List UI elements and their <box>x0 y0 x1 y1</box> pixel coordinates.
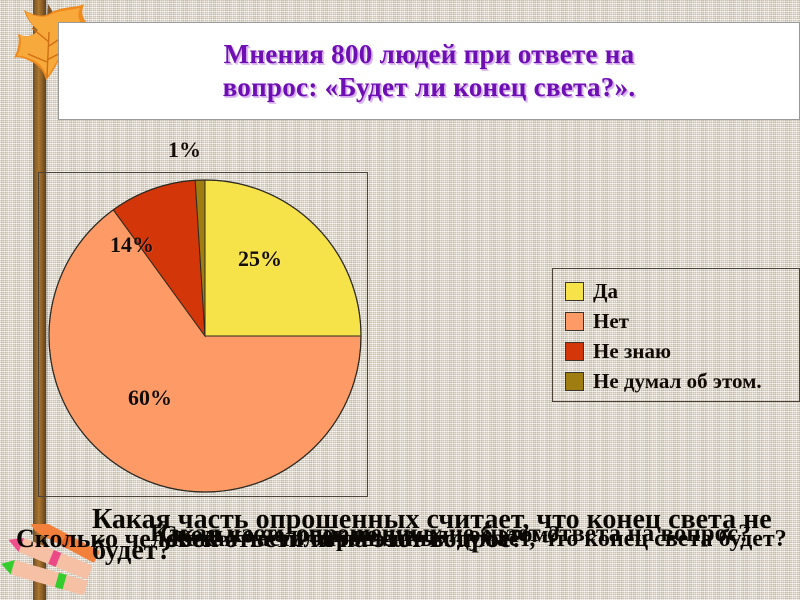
title-line-2: вопрос: «Будет ли конец света?». <box>223 71 636 104</box>
legend-item-net: Нет <box>565 306 799 336</box>
pie-chart <box>45 176 365 496</box>
question-5: Какая часть опрошенных думает, что конец… <box>170 526 787 553</box>
pie-slice-da <box>205 180 361 336</box>
pie-label-net: 60% <box>128 385 172 411</box>
title-line-1: Мнения 800 людей при ответе на <box>224 38 635 71</box>
chart-legend: Да Нет Не знаю Не думал об этом. <box>552 268 800 402</box>
legend-item-ne-dumal: Не думал об этом. <box>565 366 799 396</box>
legend-swatch-ne-znayu <box>565 342 584 361</box>
pie-label-ne-dumal: 1% <box>168 137 201 163</box>
legend-label-da: Да <box>593 279 618 304</box>
legend-item-da: Да <box>565 276 799 306</box>
legend-label-ne-dumal: Не думал об этом. <box>593 369 762 394</box>
legend-swatch-da <box>565 282 584 301</box>
legend-item-ne-znayu: Не знаю <box>565 336 799 366</box>
legend-swatch-ne-dumal <box>565 372 584 391</box>
legend-swatch-net <box>565 312 584 331</box>
question-text-stack: Сколько человек ответили на этот вопрос?… <box>0 496 800 600</box>
pie-label-ne-znayu: 14% <box>110 232 154 258</box>
legend-label-ne-znayu: Не знаю <box>593 339 671 364</box>
pie-label-da: 25% <box>238 246 282 272</box>
legend-label-net: Нет <box>593 309 629 334</box>
slide-title-box: Мнения 800 людей при ответе на вопрос: «… <box>58 22 800 120</box>
